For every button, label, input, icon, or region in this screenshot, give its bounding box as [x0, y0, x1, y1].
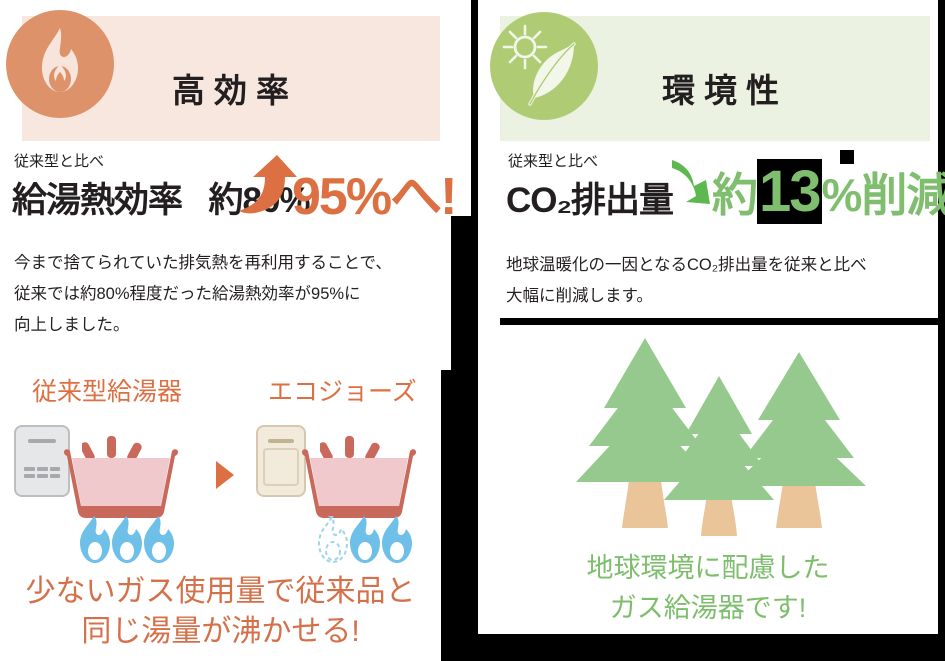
left-header-circle — [6, 10, 114, 118]
left-body-line-2: 従来では約80%程度だった給湯熱効率が95%に — [14, 279, 444, 310]
left-stat-small-label: 従来型と比べ — [14, 150, 104, 171]
left-body-line-3: 向上しました。 — [14, 310, 444, 341]
flame-group-conventional — [78, 516, 174, 566]
left-panel-catch-copy: 少ないガス使用量で従来品と 同じ湯量が沸かせる! — [0, 572, 441, 652]
left-stat-to-value: 95%へ! — [292, 154, 455, 229]
arrow-up-right-icon — [239, 153, 299, 215]
right-body-line-1: 地球温暖化の一因となるCO₂排出量を従来と比べ — [506, 250, 931, 281]
left-panel-title: 高効率 — [172, 64, 298, 112]
percent-mark-artifact — [840, 150, 854, 164]
illustration-label-conventional: 従来型給湯器 — [32, 372, 182, 408]
right-panel-divider — [500, 318, 938, 325]
right-panel-body: 地球温暖化の一因となるCO₂排出量を従来と比べ 大幅に削減します。 — [506, 250, 931, 312]
illustration-label-ecojozu: エコジョーズ — [268, 372, 417, 408]
right-panel-title: 環境性 — [662, 64, 788, 112]
bathtub-icon — [56, 448, 186, 520]
left-panel-body: 今まで捨てられていた排気熱を再利用することで、 従来では約80%程度だった給湯熱… — [14, 248, 444, 341]
left-catch-line-1: 少ないガス使用量で従来品と — [0, 572, 441, 612]
right-stat-prefix: 約 — [712, 169, 757, 221]
pine-tree-right — [732, 352, 866, 528]
left-catch-line-2: 同じ湯量が沸かせる! — [0, 612, 441, 652]
left-body-line-1: 今まで捨てられていた排気熱を再利用することで、 — [14, 248, 444, 279]
flame-group-ecojozu — [316, 516, 412, 566]
right-stat-metric-label: CO₂排出量 — [506, 172, 673, 223]
sun-leaf-icon — [490, 12, 598, 120]
infographic-stage: 高効率 従来型と比べ 給湯熱効率 約80% 95%へ! 今まで捨てられていた排気… — [0, 0, 945, 661]
right-catch-line-2: ガス給湯器です! — [478, 588, 938, 628]
right-body-line-2: 大幅に削減します。 — [506, 281, 931, 312]
right-panel-catch-copy: 地球環境に配慮した ガス給湯器です! — [478, 548, 938, 628]
triangle-right-icon — [214, 460, 236, 490]
left-stat-metric-label: 給湯熱効率 — [12, 181, 182, 220]
right-stat-value-group: 約13%削減! — [712, 158, 945, 225]
right-header-circle — [490, 12, 598, 120]
right-catch-line-1: 地球環境に配慮した — [478, 548, 938, 588]
right-stat-highlight-value: 13 — [757, 159, 822, 224]
bathtub-icon-2 — [294, 448, 424, 520]
right-stat-small-label: 従来型と比べ — [508, 150, 598, 171]
pine-trees-icon — [556, 334, 886, 552]
flame-icon — [6, 10, 114, 118]
right-stat-suffix: %削減! — [822, 169, 945, 221]
